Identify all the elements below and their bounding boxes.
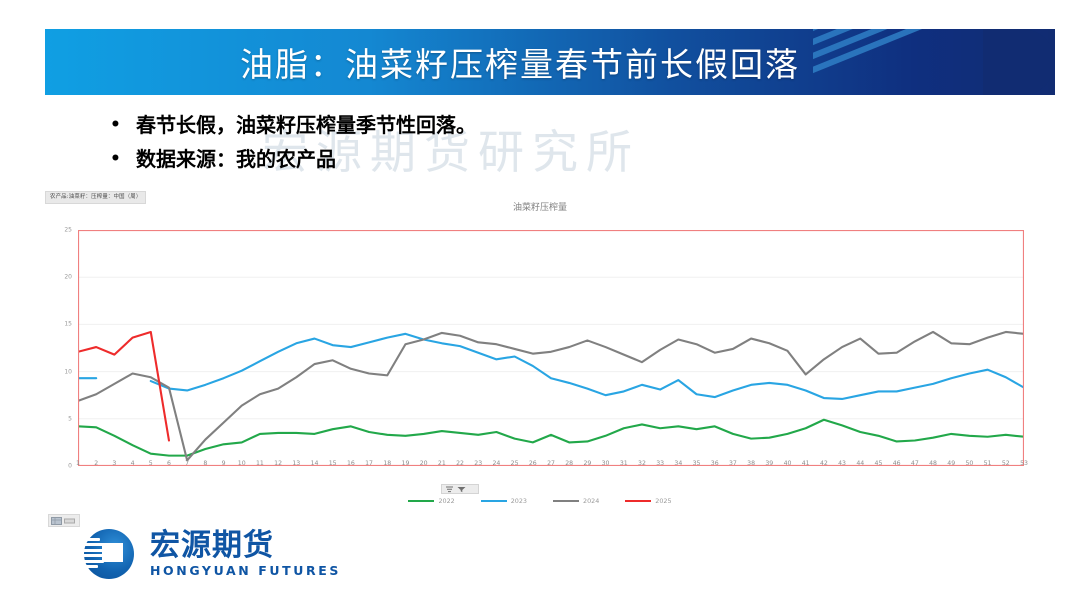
x-axis-tick-label: 2: [94, 460, 98, 467]
x-axis-tick-label: 40: [784, 460, 792, 467]
filter-icon[interactable]: [457, 480, 466, 498]
x-axis-tick-label: 26: [529, 460, 537, 467]
x-axis-tick-label: 23: [474, 460, 482, 467]
x-axis-tick-label: 13: [292, 460, 300, 467]
list-item: • 春节长假，油菜籽压榨量季节性回落。: [110, 108, 870, 142]
x-axis-tick-label: 12: [274, 460, 282, 467]
x-axis-tick-label: 51: [984, 460, 992, 467]
x-axis-tick-label: 8: [203, 460, 207, 467]
x-axis-tick-label: 24: [492, 460, 500, 467]
x-axis-tick-label: 42: [820, 460, 828, 467]
slide-title-banner: 油脂：油菜籽压榨量春节前长假回落: [45, 29, 1055, 95]
x-axis-tick-label: 14: [311, 460, 319, 467]
legend-label: 2022: [438, 497, 454, 505]
legend-color-swatch: [481, 500, 507, 502]
x-axis-tick-label: 48: [929, 460, 937, 467]
legend-item[interactable]: 2024: [553, 497, 599, 505]
x-axis-tick-label: 6: [167, 460, 171, 467]
legend-label: 2024: [583, 497, 599, 505]
chart-plot-area: [78, 230, 1024, 466]
legend-toolbar[interactable]: [441, 484, 479, 494]
x-axis-tick-label: 34: [674, 460, 682, 467]
chart-panel: 农产品:油菜籽：压榨量：中国（周） 油菜籽压榨量 0510152025 1234…: [42, 188, 1038, 518]
bullet-marker-icon: •: [110, 142, 136, 176]
legend-label: 2023: [511, 497, 527, 505]
more-icon[interactable]: [64, 512, 75, 530]
hongyuan-logo-mark-icon: [78, 528, 140, 580]
x-axis-tick-label: 7: [185, 460, 189, 467]
legend-color-swatch: [408, 500, 434, 502]
legend-color-swatch: [553, 500, 579, 502]
x-axis-tick-label: 5: [149, 460, 153, 467]
x-axis-tick-label: 17: [365, 460, 373, 467]
page-title: 油脂：油菜籽压榨量春节前长假回落: [45, 29, 1055, 95]
x-axis-tick-label: 28: [565, 460, 573, 467]
y-axis-tick-label: 15: [64, 321, 72, 328]
x-axis-tick-label: 33: [656, 460, 664, 467]
x-axis-tick-label: 49: [947, 460, 955, 467]
legend-label: 2025: [655, 497, 671, 505]
x-axis-tick-label: 27: [547, 460, 555, 467]
x-axis-tick-label: 39: [765, 460, 773, 467]
x-axis-tick-label: 53: [1020, 460, 1028, 467]
x-axis-tick-label: 52: [1002, 460, 1010, 467]
x-axis-tick-label: 36: [711, 460, 719, 467]
x-axis-tick-label: 44: [856, 460, 864, 467]
x-axis-tick-label: 1: [76, 460, 80, 467]
chart-svg: [78, 230, 1024, 466]
x-axis-tick-label: 10: [238, 460, 246, 467]
bullet-marker-icon: •: [110, 108, 136, 142]
legend-item[interactable]: 2025: [625, 497, 671, 505]
x-axis-tick-label: 41: [802, 460, 810, 467]
mini-toolbar-widget[interactable]: [48, 514, 80, 527]
company-logo: 宏源期货 HONGYUAN FUTURES: [78, 528, 341, 580]
x-axis-tick-label: 22: [456, 460, 464, 467]
x-axis-tick-label: 4: [131, 460, 135, 467]
slide-root: 油脂：油菜籽压榨量春节前长假回落 宏源期货研究所 • 春节长假，油菜籽压榨量季节…: [0, 0, 1080, 608]
x-axis-tick-label: 18: [383, 460, 391, 467]
legend-entries: 2022202320242025: [408, 497, 671, 505]
x-axis-tick-label: 35: [693, 460, 701, 467]
legend-item[interactable]: 2022: [408, 497, 454, 505]
chart-legend: 2022202320242025: [42, 484, 1038, 505]
legend-color-swatch: [625, 500, 651, 502]
x-axis-tick-label: 9: [222, 460, 226, 467]
legend-item[interactable]: 2023: [481, 497, 527, 505]
x-axis-tick-label: 29: [583, 460, 591, 467]
y-axis-tick-label: 20: [64, 274, 72, 281]
x-axis-tick-label: 32: [638, 460, 646, 467]
sort-icon[interactable]: [445, 480, 454, 498]
x-axis-tick-label: 31: [620, 460, 628, 467]
x-axis-tick-label: 37: [729, 460, 737, 467]
x-axis-tick-label: 47: [911, 460, 919, 467]
y-axis-tick-label: 10: [64, 368, 72, 375]
y-axis-tick-label: 5: [68, 415, 72, 422]
x-axis-tick-label: 46: [893, 460, 901, 467]
bullet-list: • 春节长假，油菜籽压榨量季节性回落。 • 数据来源：我的农产品: [110, 108, 870, 176]
x-axis-tick-label: 30: [602, 460, 610, 467]
bullet-text: 春节长假，油菜籽压榨量季节性回落。: [136, 108, 476, 142]
x-axis-tick-label: 3: [112, 460, 116, 467]
y-axis-tick-label: 25: [64, 227, 72, 234]
x-axis-tick-label: 11: [256, 460, 264, 467]
chart-title: 油菜籽压榨量: [42, 200, 1038, 213]
grid-icon[interactable]: [51, 512, 62, 530]
x-axis-tick-label: 43: [838, 460, 846, 467]
x-axis-tick-label: 25: [511, 460, 519, 467]
bullet-text: 数据来源：我的农产品: [136, 142, 336, 176]
logo-name-en: HONGYUAN FUTURES: [150, 563, 341, 578]
logo-name-cn: 宏源期货: [150, 530, 341, 562]
x-axis-tick-label: 50: [965, 460, 973, 467]
x-axis-tick-label: 38: [747, 460, 755, 467]
x-axis-tick-label: 15: [329, 460, 337, 467]
x-axis-tick-label: 16: [347, 460, 355, 467]
x-axis-tick-label: 21: [438, 460, 446, 467]
y-axis-labels: 0510152025: [42, 222, 76, 466]
x-axis-labels: 1234567891011121314151617181920212223242…: [78, 460, 1024, 474]
x-axis-tick-label: 19: [402, 460, 410, 467]
x-axis-tick-label: 20: [420, 460, 428, 467]
x-axis-tick-label: 45: [875, 460, 883, 467]
list-item: • 数据来源：我的农产品: [110, 142, 870, 176]
y-axis-tick-label: 0: [68, 463, 72, 470]
